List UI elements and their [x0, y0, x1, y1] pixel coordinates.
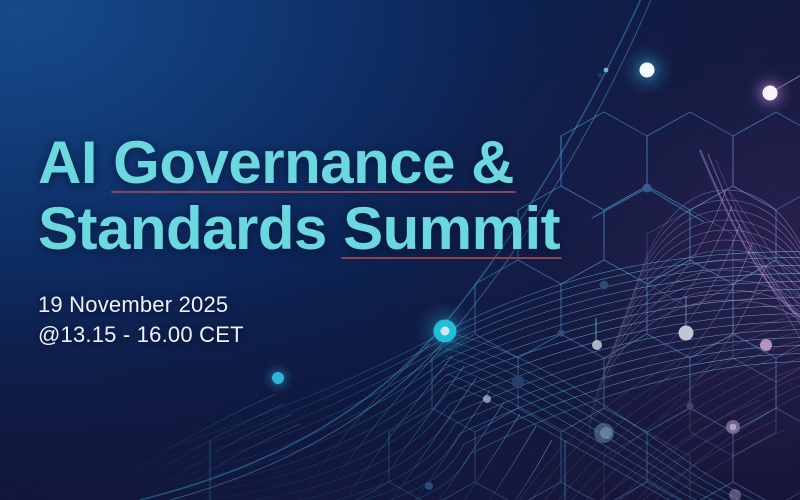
page-title-line-1: AI Governance & — [38, 130, 560, 196]
event-date: 19 November 2025 — [38, 290, 560, 320]
event-time: @13.15 - 16.00 CET — [38, 320, 560, 350]
page-title-line-2: Standards Summit — [38, 196, 560, 262]
title-plain-standards: Standards — [38, 195, 343, 262]
banner-text-block: AI Governance & Standards Summit 19 Nove… — [38, 130, 560, 350]
title-plain-ai: AI — [38, 129, 113, 196]
title-underlined-summit: Summit — [343, 196, 560, 262]
title-underlined-governance: Governance & — [113, 130, 514, 196]
event-datetime-block: 19 November 2025 @13.15 - 16.00 CET — [38, 290, 560, 350]
summit-banner: AI Governance & Standards Summit 19 Nove… — [0, 0, 800, 500]
